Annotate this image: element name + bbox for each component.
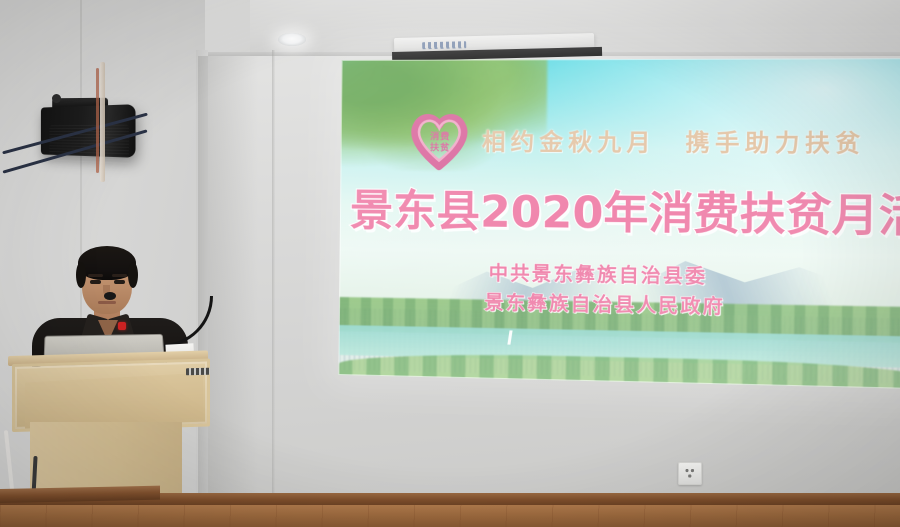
presenter-eye-right <box>114 280 125 284</box>
wall-power-outlet[interactable] <box>678 462 702 485</box>
presenter-hair-side-left <box>76 262 86 288</box>
podium-control-panel[interactable] <box>186 368 210 376</box>
projection-screen: 消费 扶贫 相约金秋九月 携手助力扶贫 景东县2020年消费扶贫月活动启动仪式 … <box>338 58 900 389</box>
wall-column-seam <box>272 50 275 502</box>
podium-inner-panel <box>25 373 203 429</box>
banner-tagline: 相约金秋九月 携手助力扶贫 <box>482 122 900 159</box>
presenter-eye-left <box>90 280 101 284</box>
presenter-eyebrow-right <box>112 274 127 277</box>
banner-subtitle-line-2: 景东彝族自治县人民政府 <box>484 287 842 321</box>
presenter-hair-side-right <box>128 262 138 288</box>
microphone-head-icon <box>104 292 116 300</box>
floor <box>0 505 900 527</box>
logo-text: 消费 扶贫 <box>421 132 460 154</box>
banner-main-title: 景东县2020年消费扶贫月活动启动仪式 <box>350 176 900 245</box>
logo-text-line1: 消费 <box>421 132 460 143</box>
wall-conduit <box>100 62 105 182</box>
ceiling-downlight-icon <box>278 33 306 46</box>
poverty-alleviation-heart-logo: 消费 扶贫 <box>407 108 472 171</box>
housing-brand-logo-icon <box>422 41 466 49</box>
banner-subtitle-line-1: 中共景东彝族自治县委 <box>489 258 847 291</box>
outlet-socket-holes-icon <box>684 467 696 479</box>
logo-text-line2: 扶贫 <box>421 143 460 154</box>
banner-text-layer: 消费 扶贫 相约金秋九月 携手助力扶贫 景东县2020年消费扶贫月活动启动仪式 … <box>338 58 900 389</box>
wall-cable-red <box>96 68 99 173</box>
podium-front-panel <box>12 358 210 432</box>
presenter-eyebrow-left <box>88 274 103 277</box>
conference-room-photo: 消费 扶贫 相约金秋九月 携手助力扶贫 景东县2020年消费扶贫月活动启动仪式 … <box>0 0 900 527</box>
speaker-mount-knob <box>52 94 61 103</box>
